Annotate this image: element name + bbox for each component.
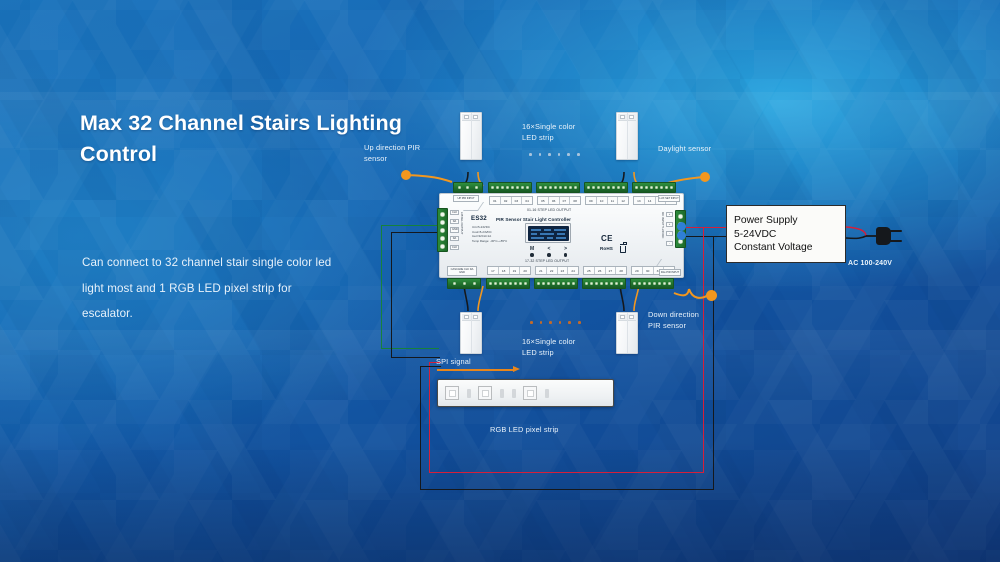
label-up-pir-sensor: Up direction PIR sensor xyxy=(364,143,444,164)
label-daylight-sensor: Daylight sensor xyxy=(658,144,748,155)
label-down-pir-sensor: Down direction PIR sensor xyxy=(648,310,728,331)
wire-mains-live xyxy=(846,227,866,236)
label-rgb-pixel-strip: RGB LED pixel strip xyxy=(490,425,600,436)
ac-plug-icon xyxy=(876,227,891,245)
label-strip-bottom: 16×Single color LED strip xyxy=(522,337,612,358)
spi-arrow-head xyxy=(513,366,520,372)
label-spi-signal: SPI signal xyxy=(436,357,496,368)
mains-wiring-overlay xyxy=(0,0,1000,562)
ac-plug-pin-upper xyxy=(890,230,902,232)
ac-plug-pin-lower xyxy=(890,240,902,242)
spi-arrow-line xyxy=(437,369,515,371)
diagram-canvas: Max 32 Channel Stairs Lighting Control C… xyxy=(0,0,1000,562)
label-strip-top: 16×Single color LED strip xyxy=(522,122,612,143)
wire-mains-neutral xyxy=(846,236,866,238)
label-ac-input: AC 100-240V xyxy=(848,259,938,269)
